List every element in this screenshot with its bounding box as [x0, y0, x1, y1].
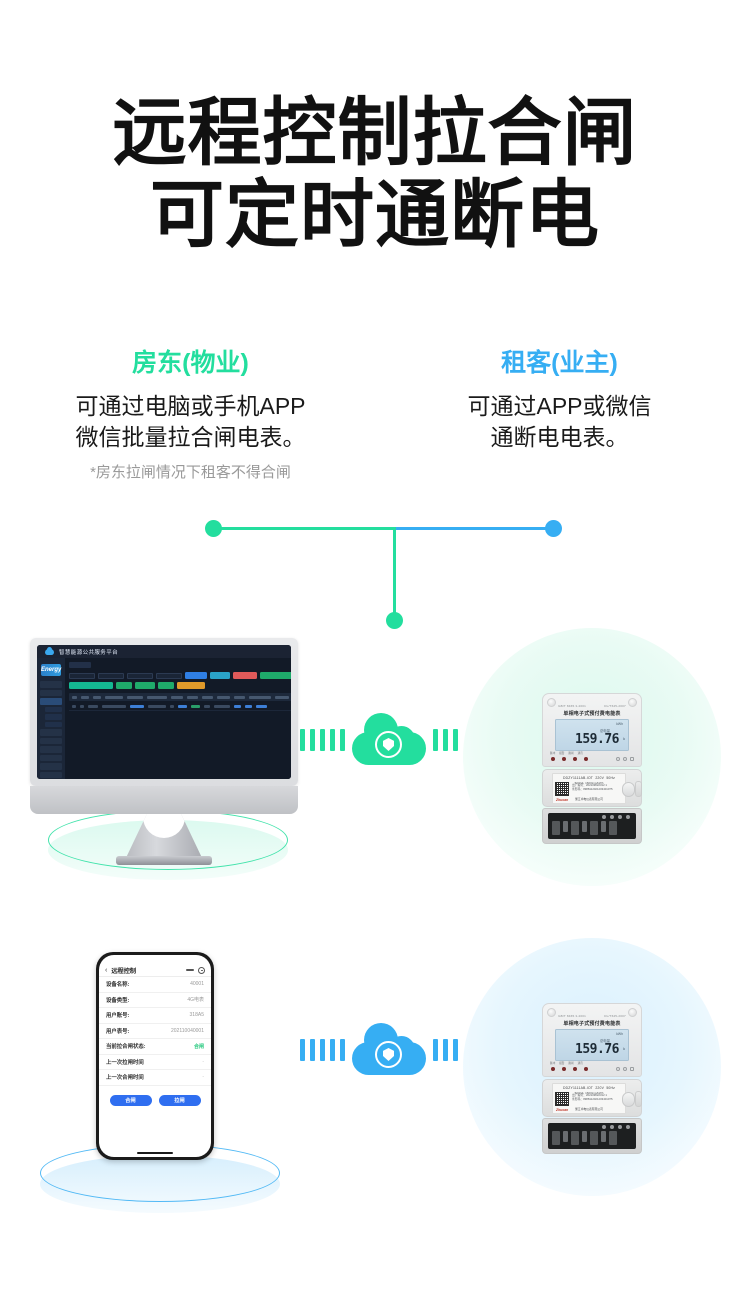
more-dots-icon[interactable] — [186, 969, 194, 971]
landlord-heading: 房东(物业) — [6, 348, 375, 378]
filter-select[interactable] — [98, 673, 124, 679]
dashboard-action-row[interactable] — [69, 682, 291, 689]
led-label: 跳闸 — [568, 1061, 573, 1065]
list-item[interactable]: 用户账号: 318A5 — [99, 1008, 211, 1024]
port-icon — [623, 1067, 627, 1071]
table-row[interactable] — [69, 703, 291, 711]
desktop-monitor: 智慧能源公共服务平台 Energy — [30, 638, 298, 814]
tenant-body: 可通过APP或微信 通断电电表。 — [375, 391, 744, 453]
sidebar-item[interactable] — [40, 763, 62, 770]
title-line-1: 远程控制拉合闸 — [0, 92, 750, 174]
dashboard-sidebar[interactable]: Energy — [37, 658, 65, 779]
led-indicator — [584, 757, 588, 761]
lcd-value: 159.76 — [575, 733, 619, 746]
phone-navbar-actions[interactable] — [186, 967, 205, 974]
column-landlord: 房东(物业) 可通过电脑或手机APP 微信批量拉合闸电表。 *房东拉闸情况下租客… — [0, 348, 375, 483]
meter-knob — [622, 782, 635, 797]
list-item[interactable]: 用户表号: 202110040001 — [99, 1024, 211, 1040]
open-breaker-button[interactable]: 拉闸 — [159, 1095, 201, 1106]
cloud-dashes-left-blue — [300, 1039, 345, 1061]
cloud-link-pc — [300, 715, 458, 765]
shield-ring-icon — [375, 731, 402, 758]
row-value: 318A5 — [190, 1012, 204, 1018]
filter-select[interactable] — [127, 673, 153, 679]
led-indicator — [584, 1067, 588, 1071]
phone-screen: ‹ 远程控制 设备名称: 40001 设备类型: 4G电表 用户账号: 318A… — [99, 955, 211, 1157]
brand-logo: Zhuoan — [556, 798, 568, 802]
connector-diagram — [0, 500, 750, 635]
filter-select[interactable] — [69, 673, 95, 679]
reset-button[interactable] — [210, 672, 230, 679]
close-breaker-button[interactable]: 合闸 — [110, 1095, 152, 1106]
meter-lcd: kWh 总电量 159.76 k — [555, 719, 629, 751]
row-key: 用户表号: — [106, 1027, 129, 1035]
meter-terminal-block — [548, 813, 636, 839]
sidebar-item[interactable] — [40, 681, 62, 688]
dashboard-app-title: 智慧能源公共服务平台 — [59, 648, 118, 656]
meter-standard-right: DL/T645-2007 — [604, 1014, 626, 1018]
target-circle-icon[interactable] — [198, 967, 205, 974]
sidebar-item[interactable] — [40, 746, 62, 753]
filter-input[interactable] — [156, 673, 182, 679]
dashboard-menu[interactable] — [37, 681, 65, 779]
spec-voltage: 220V — [595, 1086, 604, 1090]
lcd-unit: kWh — [616, 1032, 623, 1036]
monitor-base — [116, 856, 212, 865]
sidebar-item[interactable] — [40, 738, 62, 745]
led-indicator — [551, 757, 555, 761]
search-button[interactable] — [185, 672, 207, 679]
cloud-shield-icon — [352, 1025, 426, 1075]
meter-screw-icon — [628, 698, 637, 707]
nameplate-line2: 条形码：8988112021203401075 — [572, 788, 613, 792]
lcd-suffix: k — [623, 737, 625, 741]
meter-lcd: kWh 总电量 159.76 k — [555, 1029, 629, 1061]
meter-standards: GB/T 8465.3-2001 DL/T645-2007 — [549, 704, 635, 708]
electricity-meter-2: GB/T 8465.3-2001 DL/T645-2007 单相电子式预付费电能… — [542, 1003, 642, 1154]
led-indicator — [551, 1067, 555, 1071]
mobile-phone: ‹ 远程控制 设备名称: 40001 设备类型: 4G电表 用户账号: 318A… — [96, 952, 214, 1160]
spec-model: DDZY1111AB-IOT — [563, 1086, 593, 1090]
led-indicator — [562, 757, 566, 761]
cloud-shield-icon — [352, 715, 426, 765]
nameplate-serials: 出厂编号：202109022312 1 条形码：8988112021203401… — [572, 784, 613, 791]
brand-logo: Zhuoan — [556, 1108, 568, 1112]
dashboard-filter-row[interactable] — [69, 672, 291, 679]
monitor-bezel: 智慧能源公共服务平台 Energy — [30, 638, 298, 786]
nameplate-model: DDZY1111AB-IOT 220V 50Hz — [555, 1086, 623, 1090]
meter-product-name: 单相电子式预付费电能表 — [549, 1020, 635, 1027]
led-indicator — [573, 1067, 577, 1071]
port-icon — [616, 1067, 620, 1071]
meter-standard-right: DL/T645-2007 — [604, 704, 626, 708]
company-name: 浙江卓电仪表有限公司 — [575, 797, 603, 801]
table-header — [69, 693, 291, 701]
role-columns: 房东(物业) 可通过电脑或手机APP 微信批量拉合闸电表。 *房东拉闸情况下租客… — [0, 348, 750, 483]
terminal-contacts — [552, 1131, 617, 1145]
nameplate-model: DDZY1111AB-IOT 220V 50Hz — [555, 776, 623, 780]
led-label: 报警 — [559, 751, 564, 755]
landlord-note: *房东拉闸情况下租客不得合闸 — [6, 463, 375, 483]
cloud-icon — [45, 649, 54, 655]
list-item[interactable]: 上一次拉闸时间 - — [99, 1055, 211, 1071]
nameplate-line2: 条形码：8988112021203401075 — [572, 1098, 613, 1102]
button-icon[interactable] — [630, 757, 634, 761]
landlord-body-line2: 微信批量拉合闸电表。 — [6, 422, 375, 453]
meter-leds — [551, 757, 588, 761]
button-icon[interactable] — [630, 1067, 634, 1071]
spec-freq: 50Hz — [606, 1086, 615, 1090]
meter-terminal-block — [548, 1123, 636, 1149]
sidebar-item[interactable] — [40, 729, 62, 736]
list-item-breaker-status[interactable]: 当前拉合闸状态: 合闸 — [99, 1039, 211, 1055]
dashboard-logo: Energy — [41, 664, 61, 676]
row-key: 当前拉合闸状态: — [106, 1042, 146, 1050]
meter-ports — [616, 1067, 634, 1071]
cloud-dashes-left-green — [300, 729, 345, 751]
sidebar-subitem[interactable] — [45, 722, 62, 728]
lcd-suffix: k — [623, 1047, 625, 1051]
spec-freq: 50Hz — [606, 776, 615, 780]
terminal-contacts — [552, 821, 617, 835]
batch-control-button[interactable] — [69, 682, 113, 689]
action-button[interactable] — [135, 682, 155, 689]
list-item[interactable]: 上一次合闸时间 - — [99, 1070, 211, 1086]
row-key: 上一次合闸时间 — [106, 1073, 144, 1081]
meter-mid-panel: DDZY1111AB-IOT 220V 50Hz 5(60)A 1600imp/… — [542, 1079, 642, 1117]
meter-led-labels: 脉冲 报警 跳闸 通讯 — [550, 751, 583, 755]
meter-standards: GB/T 8465.3-2001 DL/T645-2007 — [549, 1014, 635, 1018]
meter-leds — [551, 1067, 588, 1071]
led-label: 通讯 — [578, 751, 583, 755]
monitor-screen: 智慧能源公共服务平台 Energy — [37, 645, 291, 779]
led-label: 跳闸 — [568, 751, 573, 755]
electricity-meter-1: GB/T 8465.3-2001 DL/T645-2007 单相电子式预付费电能… — [542, 693, 642, 844]
monitor-chin — [30, 786, 298, 814]
tenant-heading: 租客(业主) — [375, 348, 744, 378]
delete-button[interactable] — [233, 672, 257, 679]
cloud-dashes-right-blue — [433, 1039, 458, 1061]
tenant-body-line2: 通断电电表。 — [375, 422, 744, 453]
terminal-screws — [602, 815, 630, 819]
row-key: 用户账号: — [106, 1011, 129, 1019]
landlord-body: 可通过电脑或手机APP 微信批量拉合闸电表。 — [6, 391, 375, 453]
row-key: 设备类型: — [106, 996, 129, 1004]
column-tenant: 租客(业主) 可通过APP或微信 通断电电表。 — [375, 348, 750, 483]
spec-voltage: 220V — [595, 776, 604, 780]
phone-status-bar — [99, 955, 211, 964]
meter-side-tab — [635, 781, 642, 797]
cloud-link-phone — [300, 1025, 458, 1075]
row-value: 202110040001 — [171, 1028, 204, 1034]
connector-line-left — [213, 527, 395, 530]
sidebar-item-active[interactable] — [40, 698, 62, 705]
meter-top-panel: GB/T 8465.3-2001 DL/T645-2007 单相电子式预付费电能… — [542, 1003, 642, 1077]
connector-line-right — [393, 527, 553, 530]
shield-ring-icon — [375, 1041, 402, 1068]
qr-code-icon — [555, 1092, 569, 1106]
sidebar-item[interactable] — [40, 772, 62, 779]
meter-nameplate: DDZY1111AB-IOT 220V 50Hz 5(60)A 1600imp/… — [552, 773, 626, 804]
meter-standard-left: GB/T 8465.3-2001 — [558, 1014, 586, 1018]
sidebar-subitem-active[interactable] — [45, 714, 62, 720]
nameplate-serials: 出厂编号：202109022312 1 条形码：8988112021203401… — [572, 1094, 613, 1101]
terminal-screws — [602, 1125, 630, 1129]
phone-home-indicator — [137, 1152, 173, 1154]
meter-knob — [622, 1092, 635, 1107]
row-value: - — [202, 1059, 204, 1065]
phone-page-title: 远程控制 — [111, 966, 136, 975]
row-key: 设备名称: — [106, 980, 129, 988]
row-value: 40001 — [190, 981, 204, 987]
meter-screw-icon — [547, 698, 556, 707]
list-item[interactable]: 设备名称: 40001 — [99, 977, 211, 993]
meter-side-tab — [635, 1091, 642, 1107]
dashboard-titlebar: 智慧能源公共服务平台 — [37, 645, 291, 658]
meter-top-panel: GB/T 8465.3-2001 DL/T645-2007 单相电子式预付费电能… — [542, 693, 642, 767]
led-label: 脉冲 — [550, 1061, 555, 1065]
row-value: 4G电表 — [187, 996, 204, 1003]
meter-terminal-cover — [542, 808, 642, 844]
dashboard-body: Energy — [37, 658, 291, 779]
meter-led-labels: 脉冲 报警 跳闸 通讯 — [550, 1061, 583, 1065]
led-indicator — [573, 757, 577, 761]
company-name: 浙江卓电仪表有限公司 — [575, 1107, 603, 1111]
qr-code-icon — [555, 782, 569, 796]
page-title: 远程控制拉合闸 可定时通断电 — [0, 92, 750, 256]
action-button[interactable] — [177, 682, 205, 689]
lcd-value: 159.76 — [575, 1043, 619, 1056]
meter-standard-left: GB/T 8465.3-2001 — [558, 704, 586, 708]
phone-navbar: ‹ 远程控制 — [99, 964, 211, 977]
led-indicator — [562, 1067, 566, 1071]
meter-screw-icon — [628, 1008, 637, 1017]
spec-model: DDZY1111AB-IOT — [563, 776, 593, 780]
meter-mid-panel: DDZY1111AB-IOT 220V 50Hz 5(60)A 1600imp/… — [542, 769, 642, 807]
cloud-dashes-right-green — [433, 729, 458, 751]
port-icon — [616, 757, 620, 761]
sidebar-item[interactable] — [40, 755, 62, 762]
led-label: 报警 — [559, 1061, 564, 1065]
export-button[interactable] — [260, 672, 291, 679]
status-badge: 合闸 — [194, 1043, 204, 1050]
action-button[interactable] — [116, 682, 132, 689]
dashboard-main — [65, 658, 291, 779]
port-icon — [623, 757, 627, 761]
connector-line-vertical — [393, 527, 396, 619]
meter-nameplate: DDZY1111AB-IOT 220V 50Hz 5(60)A 1600imp/… — [552, 1083, 626, 1114]
landlord-body-line1: 可通过电脑或手机APP — [6, 391, 375, 422]
phone-action-buttons[interactable]: 合闸 拉闸 — [99, 1095, 211, 1106]
chevron-left-icon[interactable]: ‹ — [105, 967, 107, 974]
row-key: 上一次拉闸时间 — [106, 1058, 144, 1066]
table-pagination[interactable] — [69, 711, 291, 779]
dashboard-tab-button[interactable] — [69, 662, 91, 668]
sidebar-item[interactable] — [40, 690, 62, 697]
led-label: 脉冲 — [550, 751, 555, 755]
list-item[interactable]: 设备类型: 4G电表 — [99, 993, 211, 1009]
connector-dot-right — [545, 520, 562, 537]
meter-product-name: 单相电子式预付费电能表 — [549, 710, 635, 717]
action-button[interactable] — [158, 682, 174, 689]
lcd-unit: kWh — [616, 722, 623, 726]
tenant-body-line1: 可通过APP或微信 — [375, 391, 744, 422]
sidebar-subitem[interactable] — [45, 707, 62, 713]
led-label: 通讯 — [578, 1061, 583, 1065]
promo-page: 远程控制拉合闸 可定时通断电 房东(物业) 可通过电脑或手机APP 微信批量拉合… — [0, 0, 750, 1311]
meter-terminal-cover — [542, 1118, 642, 1154]
meter-ports — [616, 757, 634, 761]
meter-screw-icon — [547, 1008, 556, 1017]
title-line-2: 可定时通断电 — [0, 174, 750, 256]
row-value: - — [202, 1074, 204, 1080]
